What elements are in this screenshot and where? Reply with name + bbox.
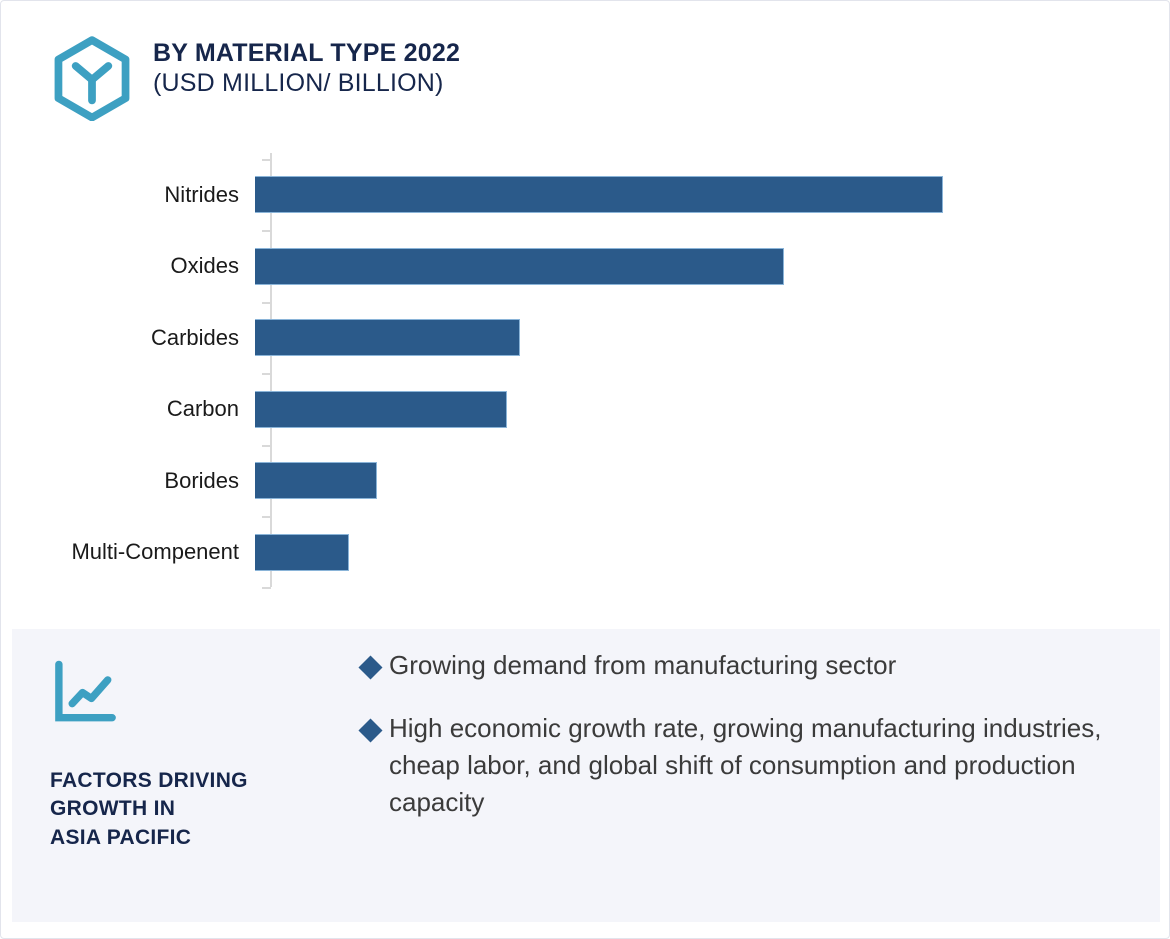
chart-row: Oxides bbox=[1, 231, 1170, 303]
page-subtitle: (USD MILLION/ BILLION) bbox=[153, 69, 460, 99]
bar-nitrides[interactable] bbox=[255, 176, 943, 213]
list-item: Growing demand from manufacturing sector bbox=[362, 647, 1132, 684]
diamond-bullet-icon bbox=[358, 718, 382, 742]
bar-multi-compenent[interactable] bbox=[255, 534, 349, 571]
bar-borides[interactable] bbox=[255, 462, 377, 499]
bar-zone bbox=[255, 517, 1170, 589]
list-item-text: High economic growth rate, growing manuf… bbox=[389, 710, 1132, 821]
header-text: BY MATERIAL TYPE 2022 (USD MILLION/ BILL… bbox=[153, 33, 460, 98]
category-label: Multi-Compenent bbox=[1, 539, 255, 565]
category-label: Oxides bbox=[1, 253, 255, 279]
chart-row: Carbon bbox=[1, 374, 1170, 446]
bar-oxides[interactable] bbox=[255, 248, 784, 285]
factors-panel: FACTORS DRIVING GROWTH IN ASIA PACIFIC G… bbox=[12, 629, 1160, 922]
factors-panel-heading: FACTORS DRIVING GROWTH IN ASIA PACIFIC bbox=[50, 767, 350, 852]
bar-zone bbox=[255, 302, 1170, 374]
list-item-text: Growing demand from manufacturing sector bbox=[389, 647, 896, 684]
factors-heading-line: GROWTH IN bbox=[50, 795, 350, 823]
bar-carbides[interactable] bbox=[255, 319, 520, 356]
factors-list: Growing demand from manufacturing sector… bbox=[362, 647, 1132, 847]
bar-zone bbox=[255, 445, 1170, 517]
chart-row: Borides bbox=[1, 445, 1170, 517]
hexagon-y-icon bbox=[49, 35, 135, 121]
list-item: High economic growth rate, growing manuf… bbox=[362, 710, 1132, 821]
bar-carbon[interactable] bbox=[255, 391, 507, 428]
header: BY MATERIAL TYPE 2022 (USD MILLION/ BILL… bbox=[49, 33, 460, 121]
bar-zone bbox=[255, 374, 1170, 446]
chart-row: Multi-Compenent bbox=[1, 517, 1170, 589]
chart-row: Nitrides bbox=[1, 159, 1170, 231]
bar-chart: Nitrides Oxides Carbides Carbon bbox=[1, 153, 1170, 603]
infographic-card: BY MATERIAL TYPE 2022 (USD MILLION/ BILL… bbox=[0, 0, 1170, 939]
category-label: Carbides bbox=[1, 325, 255, 351]
category-label: Carbon bbox=[1, 396, 255, 422]
chart-rows: Nitrides Oxides Carbides Carbon bbox=[1, 159, 1170, 588]
line-chart-icon bbox=[50, 657, 350, 731]
page-title: BY MATERIAL TYPE 2022 bbox=[153, 39, 460, 69]
chart-row: Carbides bbox=[1, 302, 1170, 374]
factors-heading-line: FACTORS DRIVING bbox=[50, 767, 350, 795]
factors-panel-left: FACTORS DRIVING GROWTH IN ASIA PACIFIC bbox=[50, 657, 350, 852]
diamond-bullet-icon bbox=[358, 655, 382, 679]
bar-zone bbox=[255, 159, 1170, 231]
factors-heading-line: ASIA PACIFIC bbox=[50, 824, 350, 852]
category-label: Nitrides bbox=[1, 182, 255, 208]
category-label: Borides bbox=[1, 468, 255, 494]
bar-zone bbox=[255, 231, 1170, 303]
